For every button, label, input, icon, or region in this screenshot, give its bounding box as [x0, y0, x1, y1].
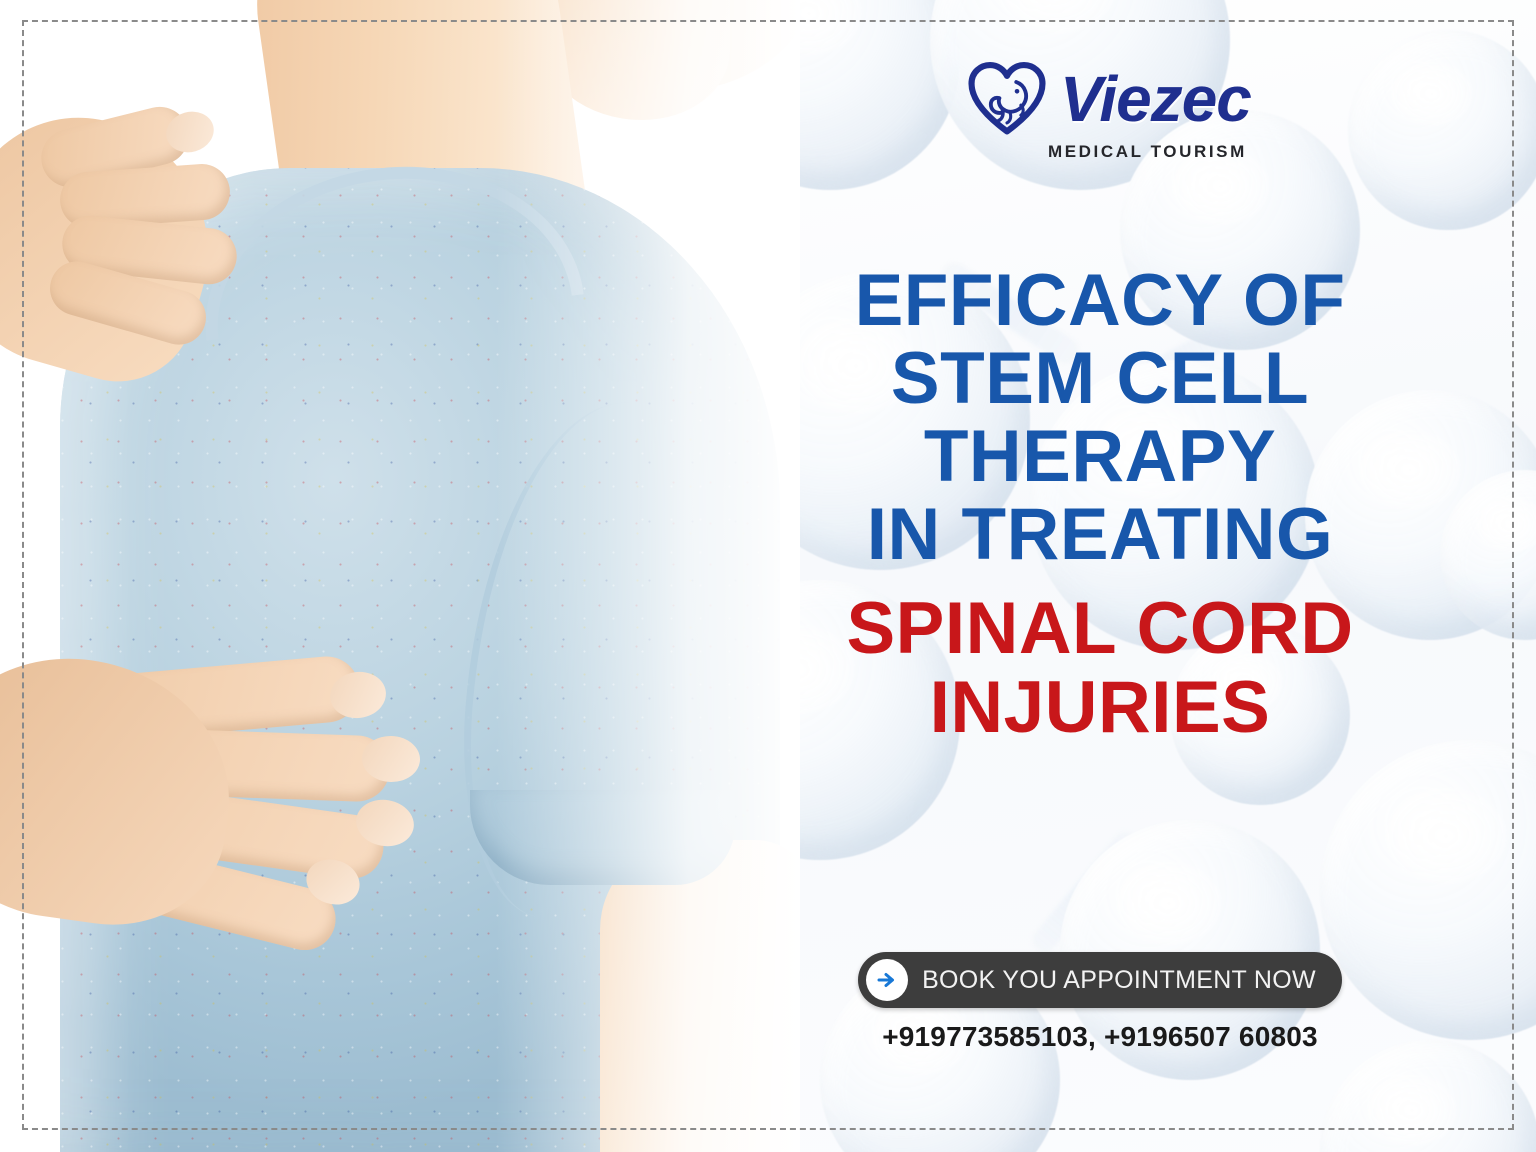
- heart-embryo-icon: [968, 62, 1046, 136]
- brand-tagline: MEDICAL TOURISM: [1048, 142, 1247, 162]
- headline-line-2: STEM CELL: [800, 340, 1400, 418]
- cta-label: BOOK YOU APPOINTMENT NOW: [922, 966, 1316, 995]
- arrow-right-icon: [866, 959, 908, 1001]
- contact-phone-numbers[interactable]: +919773585103, +9196507 60803: [882, 1021, 1318, 1053]
- headline-line-4: IN TREATING: [800, 496, 1400, 574]
- headline-line-6: INJURIES: [800, 669, 1400, 747]
- headline-line-3: THERAPY: [800, 418, 1400, 496]
- headline-line-5: SPINAL CORD: [800, 590, 1400, 668]
- headline-line-1: EFFICACY OF: [800, 262, 1400, 340]
- arrow-right-glyph: [875, 968, 899, 992]
- book-appointment-button[interactable]: BOOK YOU APPOINTMENT NOW: [858, 952, 1342, 1008]
- molecule-sphere: [1320, 1040, 1536, 1152]
- poster-canvas: Viezec MEDICAL TOURISM EFFICACY OF STEM …: [0, 0, 1536, 1152]
- brand-name: Viezec: [1060, 67, 1251, 131]
- headline-block: EFFICACY OF STEM CELL THERAPY IN TREATIN…: [800, 262, 1400, 747]
- photo-sleeve-hem: [470, 790, 735, 885]
- molecule-sphere: [1348, 30, 1536, 230]
- brand-logo[interactable]: Viezec MEDICAL TOURISM: [968, 62, 1251, 162]
- cta-block: BOOK YOU APPOINTMENT NOW +919773585103, …: [800, 952, 1400, 1053]
- hero-photo: [0, 0, 800, 1152]
- brand-logo-row: Viezec: [968, 62, 1251, 136]
